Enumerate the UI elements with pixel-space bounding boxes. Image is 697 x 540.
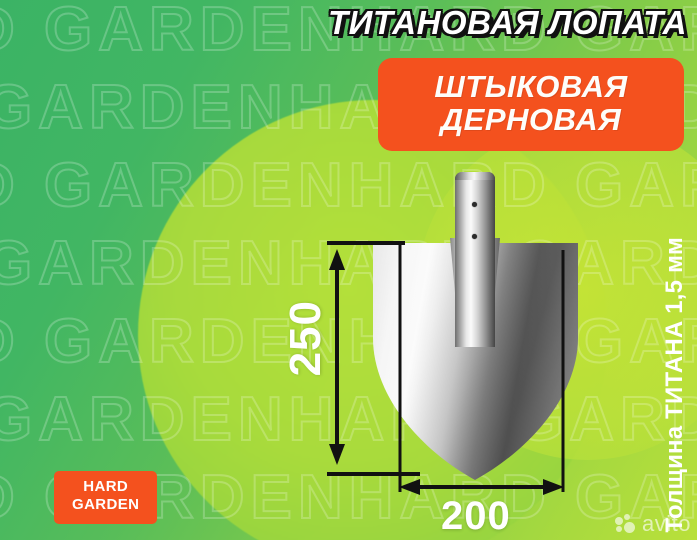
arrowhead-up-icon — [329, 249, 345, 270]
brand-logo-line-2: GARDEN — [72, 496, 139, 514]
arrowhead-down-icon — [329, 444, 345, 465]
avito-dots-icon — [615, 514, 637, 534]
arrowhead-left-icon — [399, 479, 420, 495]
dimension-label-height: 250 — [281, 300, 331, 376]
brand-logo-badge: HARD GARDEN — [54, 471, 157, 524]
avito-label: avito — [642, 513, 691, 535]
titanium-thickness-note: Толщина ТИТАНА 1,5 мм — [661, 237, 689, 532]
avito-watermark: avito — [615, 513, 691, 535]
product-image-canvas: D GARDENHARD GARDENHARD GAR D GARDENHARD… — [0, 0, 697, 540]
dimension-label-width: 200 — [441, 494, 511, 539]
dimension-annotation-layer — [0, 0, 697, 540]
side-note-container: Толщина ТИТАНА 1,5 мм — [653, 0, 697, 540]
brand-logo-line-1: HARD — [72, 478, 139, 496]
arrowhead-right-icon — [543, 479, 564, 495]
